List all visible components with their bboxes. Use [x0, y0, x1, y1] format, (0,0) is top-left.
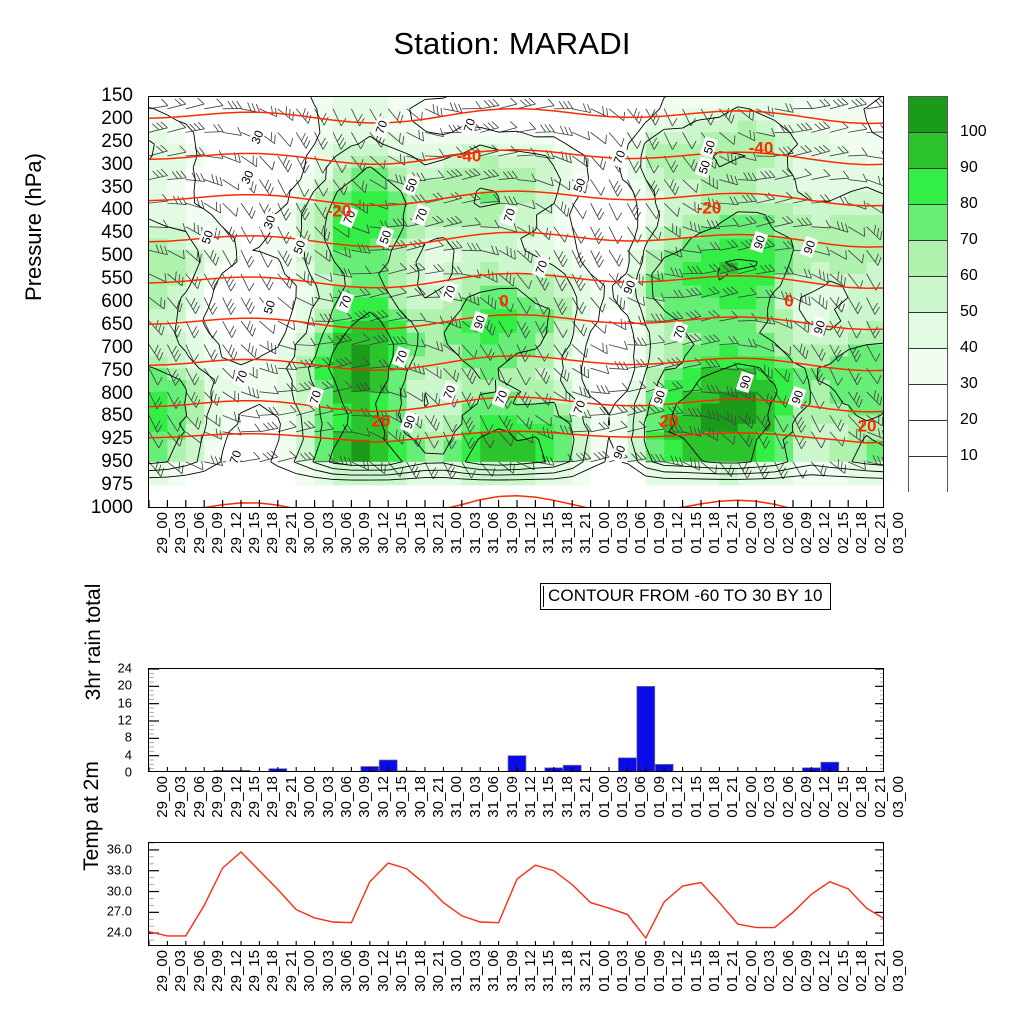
colorbar-band-0 [909, 97, 947, 133]
time-tick-29_00: 29_00 [154, 512, 171, 554]
time-tick-01_15: 01_15 [688, 776, 705, 818]
time-tick-31_00: 31_00 [448, 512, 465, 554]
time-tick-02_00: 02_00 [743, 776, 760, 818]
time-tick-29_03: 29_03 [172, 512, 189, 554]
time-tick-02_00: 02_00 [743, 950, 760, 992]
time-tick-29_06: 29_06 [191, 950, 208, 992]
time-tick-02_18: 02_18 [853, 512, 870, 554]
time-tick-01_09: 01_09 [651, 776, 668, 818]
time-tick-02_06: 02_06 [780, 950, 797, 992]
svg-text:-40: -40 [749, 139, 774, 158]
temp-tick-33.0: 33.0 [107, 862, 140, 877]
rain-tick-0: 0 [125, 765, 140, 780]
time-tick-30_21: 30_21 [430, 776, 447, 818]
time-tick-31_06: 31_06 [485, 776, 502, 818]
time-tick-03_00: 03_00 [890, 950, 907, 992]
colorbar-label-100: 100 [960, 123, 987, 141]
time-tick-30_21: 30_21 [430, 950, 447, 992]
time-tick-02_18: 02_18 [853, 776, 870, 818]
time-tick-31_21: 31_21 [577, 950, 594, 992]
time-tick-02_12: 02_12 [816, 512, 833, 554]
time-tick-30_18: 30_18 [412, 512, 429, 554]
time-tick-29_06: 29_06 [191, 776, 208, 818]
pressure-tick-750: 750 [101, 360, 142, 382]
time-tick-30_18: 30_18 [412, 950, 429, 992]
svg-text:0: 0 [499, 292, 508, 311]
colorbar-label-10: 10 [960, 447, 978, 465]
temp-svg [149, 843, 884, 946]
temp-panel-xaxis: 29_0029_0329_0629_0929_1229_1529_1829_21… [148, 950, 884, 1022]
time-tick-31_09: 31_09 [504, 776, 521, 818]
humidity-shading-layer [149, 97, 884, 508]
time-tick-01_06: 01_06 [632, 776, 649, 818]
time-tick-01_18: 01_18 [706, 512, 723, 554]
time-tick-02_06: 02_06 [780, 512, 797, 554]
time-tick-01_21: 01_21 [724, 950, 741, 992]
time-tick-01_12: 01_12 [669, 512, 686, 554]
time-tick-29_06: 29_06 [191, 512, 208, 554]
time-tick-30_09: 30_09 [356, 950, 373, 992]
colorbar-label-80: 80 [960, 195, 978, 213]
time-tick-02_06: 02_06 [780, 776, 797, 818]
time-tick-31_03: 31_03 [467, 512, 484, 554]
svg-text:-20: -20 [327, 202, 352, 221]
pressure-tick-400: 400 [101, 199, 142, 221]
pressure-tick-200: 200 [101, 108, 142, 130]
time-tick-02_03: 02_03 [761, 512, 778, 554]
time-tick-01_09: 01_09 [651, 950, 668, 992]
colorbar-label-60: 60 [960, 267, 978, 285]
rain-tick-16: 16 [118, 695, 140, 710]
time-tick-02_15: 02_15 [835, 512, 852, 554]
time-tick-30_00: 30_00 [301, 512, 318, 554]
time-tick-01_18: 01_18 [706, 950, 723, 992]
pressure-tick-700: 700 [101, 337, 142, 359]
time-tick-01_03: 01_03 [614, 776, 631, 818]
svg-text:-40: -40 [457, 147, 482, 166]
time-tick-02_18: 02_18 [853, 950, 870, 992]
time-tick-31_12: 31_12 [522, 950, 539, 992]
time-tick-30_03: 30_03 [320, 512, 337, 554]
svg-text:-20: -20 [697, 199, 722, 218]
time-tick-02_09: 02_09 [798, 512, 815, 554]
page-title: Station: MARADI [0, 26, 1024, 62]
pressure-tick-975: 975 [101, 474, 142, 496]
time-tick-31_12: 31_12 [522, 776, 539, 818]
rain-tick-4: 4 [125, 747, 140, 762]
time-tick-31_03: 31_03 [467, 950, 484, 992]
time-tick-01_15: 01_15 [688, 950, 705, 992]
pressure-tick-925: 925 [101, 428, 142, 450]
time-tick-02_15: 02_15 [835, 950, 852, 992]
rain-tick-20: 20 [118, 678, 140, 693]
time-tick-29_21: 29_21 [283, 776, 300, 818]
rain-tick-24: 24 [118, 661, 140, 676]
time-tick-31_00: 31_00 [448, 950, 465, 992]
time-tick-30_21: 30_21 [430, 512, 447, 554]
rain-bar-chart [148, 668, 884, 772]
time-tick-29_18: 29_18 [264, 950, 281, 992]
temp-panel-yaxis: 24.027.030.033.036.0 [84, 842, 140, 946]
time-tick-29_09: 29_09 [209, 776, 226, 818]
colorbar-band-6 [909, 313, 947, 349]
pressure-tick-500: 500 [101, 245, 142, 267]
time-tick-01_09: 01_09 [651, 512, 668, 554]
time-tick-01_12: 01_12 [669, 776, 686, 818]
pressure-tick-600: 600 [101, 291, 142, 313]
time-tick-31_21: 31_21 [577, 776, 594, 818]
time-tick-29_21: 29_21 [283, 512, 300, 554]
time-tick-31_18: 31_18 [559, 950, 576, 992]
time-tick-02_21: 02_21 [872, 512, 889, 554]
time-tick-01_21: 01_21 [724, 776, 741, 818]
time-tick-01_21: 01_21 [724, 512, 741, 554]
temp-tick-24.0: 24.0 [107, 925, 140, 940]
humidity-cross-section-plot: 3070705030507050707050705070705050907090… [148, 96, 884, 508]
colorbar-band-3 [909, 205, 947, 241]
time-tick-02_12: 02_12 [816, 950, 833, 992]
time-tick-31_12: 31_12 [522, 512, 539, 554]
colorbar-band-8 [909, 385, 947, 421]
pressure-tick-1000: 1000 [91, 497, 142, 519]
time-tick-01_03: 01_03 [614, 512, 631, 554]
time-tick-30_06: 30_06 [338, 776, 355, 818]
time-tick-31_15: 31_15 [540, 512, 557, 554]
svg-text:20: 20 [372, 412, 391, 431]
time-tick-31_21: 31_21 [577, 512, 594, 554]
time-tick-02_03: 02_03 [761, 950, 778, 992]
time-tick-01_06: 01_06 [632, 950, 649, 992]
time-tick-02_03: 02_03 [761, 776, 778, 818]
pressure-tick-300: 300 [101, 154, 142, 176]
time-tick-31_06: 31_06 [485, 512, 502, 554]
temp-line-chart [148, 842, 884, 946]
pressure-tick-550: 550 [101, 268, 142, 290]
time-tick-29_12: 29_12 [228, 950, 245, 992]
time-tick-01_12: 01_12 [669, 950, 686, 992]
time-tick-30_03: 30_03 [320, 950, 337, 992]
cross-section-svg: 3070705030507050707050705070705050907090… [149, 97, 884, 508]
time-tick-29_15: 29_15 [246, 512, 263, 554]
time-tick-30_12: 30_12 [375, 950, 392, 992]
rain-tick-12: 12 [118, 713, 140, 728]
time-tick-01_03: 01_03 [614, 950, 631, 992]
colorbar-label-40: 40 [960, 339, 978, 357]
colorbar-band-5 [909, 277, 947, 313]
time-tick-30_00: 30_00 [301, 950, 318, 992]
time-tick-29_09: 29_09 [209, 512, 226, 554]
time-tick-03_00: 03_00 [890, 512, 907, 554]
time-tick-31_00: 31_00 [448, 776, 465, 818]
time-tick-29_12: 29_12 [228, 512, 245, 554]
pressure-tick-450: 450 [101, 222, 142, 244]
time-tick-01_00: 01_00 [596, 950, 613, 992]
time-tick-01_00: 01_00 [596, 776, 613, 818]
time-tick-29_00: 29_00 [154, 776, 171, 818]
pressure-tick-950: 950 [101, 451, 142, 473]
time-tick-31_15: 31_15 [540, 950, 557, 992]
time-tick-30_09: 30_09 [356, 776, 373, 818]
time-tick-29_00: 29_00 [154, 950, 171, 992]
pressure-tick-650: 650 [101, 314, 142, 336]
time-tick-31_09: 31_09 [504, 950, 521, 992]
rain-panel-xaxis: 29_0029_0329_0629_0929_1229_1529_1829_21… [148, 776, 884, 848]
time-tick-30_15: 30_15 [393, 950, 410, 992]
time-tick-02_15: 02_15 [835, 776, 852, 818]
time-tick-01_18: 01_18 [706, 776, 723, 818]
pressure-tick-850: 850 [101, 405, 142, 427]
time-tick-31_15: 31_15 [540, 776, 557, 818]
colorbar [908, 96, 948, 492]
colorbar-band-7 [909, 349, 947, 385]
time-tick-29_18: 29_18 [264, 776, 281, 818]
colorbar-band-9 [909, 421, 947, 457]
time-tick-02_12: 02_12 [816, 776, 833, 818]
time-tick-31_06: 31_06 [485, 950, 502, 992]
time-tick-31_18: 31_18 [559, 776, 576, 818]
time-tick-30_12: 30_12 [375, 512, 392, 554]
time-tick-30_00: 30_00 [301, 776, 318, 818]
time-tick-29_15: 29_15 [246, 776, 263, 818]
time-tick-30_09: 30_09 [356, 512, 373, 554]
svg-text:20: 20 [858, 417, 877, 436]
temp-tick-36.0: 36.0 [107, 841, 140, 856]
time-tick-30_15: 30_15 [393, 512, 410, 554]
colorbar-label-70: 70 [960, 231, 978, 249]
time-tick-30_15: 30_15 [393, 776, 410, 818]
colorbar-label-90: 90 [960, 159, 978, 177]
time-tick-02_00: 02_00 [743, 512, 760, 554]
time-tick-01_06: 01_06 [632, 512, 649, 554]
colorbar-label-30: 30 [960, 375, 978, 393]
time-tick-29_03: 29_03 [172, 776, 189, 818]
time-tick-29_09: 29_09 [209, 950, 226, 992]
contour-legend-box: CONTOUR FROM -60 TO 30 BY 10 [540, 583, 831, 610]
time-tick-29_21: 29_21 [283, 950, 300, 992]
time-tick-31_18: 31_18 [559, 512, 576, 554]
time-tick-29_15: 29_15 [246, 950, 263, 992]
pressure-tick-150: 150 [101, 85, 142, 107]
colorbar-band-4 [909, 241, 947, 277]
time-tick-30_06: 30_06 [338, 950, 355, 992]
main-panel-xaxis: 29_0029_0329_0629_0929_1229_1529_1829_21… [148, 512, 884, 584]
svg-text:20: 20 [660, 412, 679, 431]
colorbar-band-1 [909, 133, 947, 169]
pressure-tick-800: 800 [101, 383, 142, 405]
colorbar-band-2 [909, 169, 947, 205]
colorbar-band-10 [909, 457, 947, 493]
colorbar-label-50: 50 [960, 303, 978, 321]
main-panel-yaxis: 1502002503003504004505005506006507007508… [0, 96, 142, 508]
rain-svg [149, 669, 884, 772]
time-tick-02_21: 02_21 [872, 776, 889, 818]
temp-tick-27.0: 27.0 [107, 904, 140, 919]
time-tick-30_18: 30_18 [412, 776, 429, 818]
colorbar-label-20: 20 [960, 411, 978, 429]
time-tick-30_03: 30_03 [320, 776, 337, 818]
time-tick-03_00: 03_00 [890, 776, 907, 818]
time-tick-01_00: 01_00 [596, 512, 613, 554]
svg-text:0: 0 [784, 292, 793, 311]
pressure-tick-250: 250 [101, 131, 142, 153]
time-tick-02_09: 02_09 [798, 950, 815, 992]
time-tick-30_06: 30_06 [338, 512, 355, 554]
temp-tick-30.0: 30.0 [107, 883, 140, 898]
pressure-tick-350: 350 [101, 177, 142, 199]
time-tick-31_03: 31_03 [467, 776, 484, 818]
time-tick-29_12: 29_12 [228, 776, 245, 818]
time-tick-29_03: 29_03 [172, 950, 189, 992]
time-tick-02_21: 02_21 [872, 950, 889, 992]
time-tick-31_09: 31_09 [504, 512, 521, 554]
time-tick-01_15: 01_15 [688, 512, 705, 554]
rain-tick-8: 8 [125, 730, 140, 745]
time-tick-29_18: 29_18 [264, 512, 281, 554]
time-tick-30_12: 30_12 [375, 776, 392, 818]
time-tick-02_09: 02_09 [798, 776, 815, 818]
